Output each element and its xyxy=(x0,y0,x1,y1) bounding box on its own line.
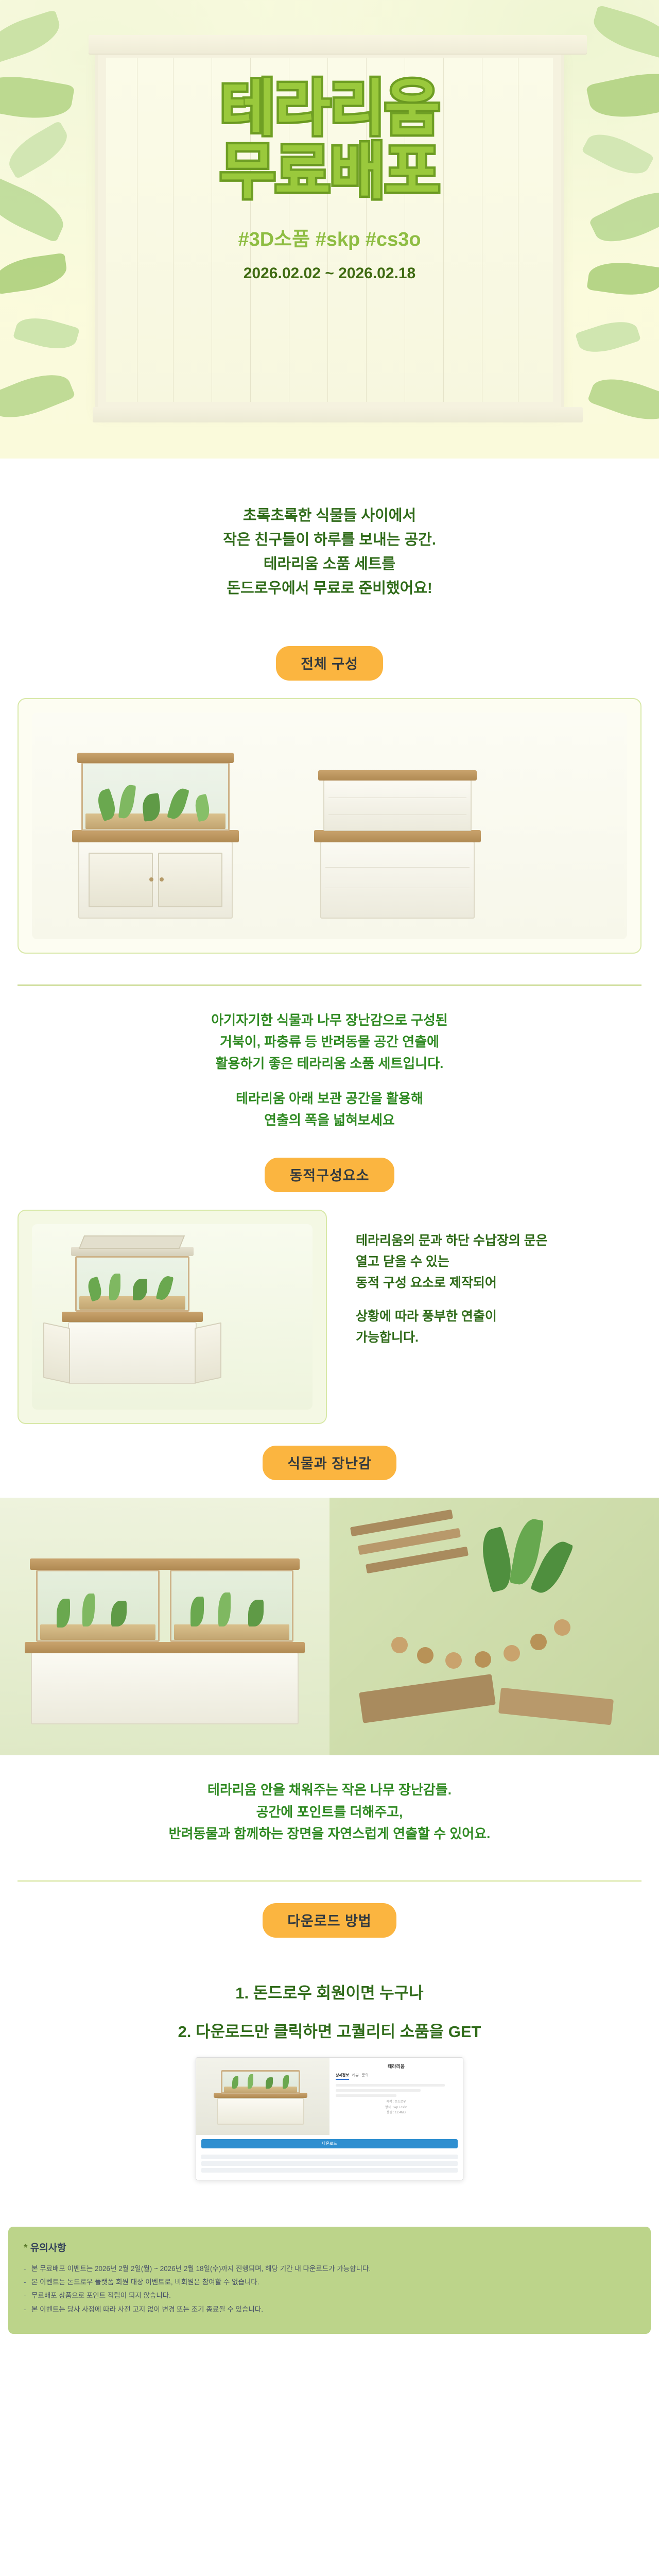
caption-line-4: 테라리움 아래 보관 공간을 활용해 xyxy=(0,1088,659,1109)
promo-page: 테라리움 무료배포 #3D소품 #skp #cs3o 2026.02.02 ~ … xyxy=(0,0,659,2576)
hero-title: 테라리움 무료배포 xyxy=(0,77,659,204)
screenshot-product-info: 테라리움 상세정보 리뷰 문의 제작 : 돈드로우 형식 : skp / cs3… xyxy=(329,2058,463,2135)
hero-title-line2: 무료배포 xyxy=(0,141,659,204)
hero-hashtags: #3D소품 #skp #cs3o xyxy=(0,223,659,251)
download-step-1: 1. 돈드로우 회원이면 누구나 xyxy=(0,1980,659,2003)
plants-and-toys-images xyxy=(0,1498,659,1755)
badge-wrap: 식물과 장난감 xyxy=(0,1429,659,1498)
badge-wrap: 다운로드 방법 xyxy=(0,1887,659,1955)
intro-line-1: 초록초록한 식물들 사이에서 xyxy=(0,504,659,528)
screenshot-download-button[interactable]: 다운로드 xyxy=(201,2139,458,2148)
dynamic-line-2: 열고 닫을 수 있는 xyxy=(356,1251,636,1273)
full-composition-caption: 아기자기한 식물과 나무 장난감으로 구성된 거북이, 파충류 등 반려동물 공… xyxy=(0,986,659,1137)
section-divider xyxy=(18,1880,641,1882)
hero-banner: 테라리움 무료배포 #3D소품 #skp #cs3o 2026.02.02 ~ … xyxy=(0,0,659,459)
notice-title: 유의사항 xyxy=(30,2243,66,2253)
screenshot-placeholder-line xyxy=(336,2084,445,2087)
plants-image-left xyxy=(0,1498,329,1755)
screenshot-meta-1: 제작 : 돈드로우 xyxy=(336,2099,457,2105)
section-download-method: 다운로드 방법 1. 돈드로우 회원이면 누구나 2. 다운로드만 클릭하면 고… xyxy=(0,1887,659,2191)
screenshot-top-row: 테라리움 상세정보 리뷰 문의 제작 : 돈드로우 형식 : skp / cs3… xyxy=(196,2058,463,2135)
intro-line-2: 작은 친구들이 하루를 보내는 공간. xyxy=(0,528,659,552)
full-composition-image-panel xyxy=(18,698,641,954)
screenshot-meta-2: 형식 : skp / cs3o xyxy=(336,2105,457,2111)
screenshot-bottom xyxy=(196,2151,463,2180)
notice-item: 본 이벤트는 당사 사정에 따라 사전 고지 없이 변경 또는 조기 종료될 수… xyxy=(24,2303,635,2316)
screenshot-placeholder-line xyxy=(336,2089,421,2092)
leaf-decor-icon xyxy=(0,365,76,428)
asterisk-icon: * xyxy=(24,2243,27,2253)
terrarium-full-illustration xyxy=(32,713,627,939)
notice-list: 본 무료배포 이벤트는 2026년 2월 2일(월) ~ 2026년 2월 18… xyxy=(24,2262,635,2316)
screenshot-tab-inquiry[interactable]: 문의 xyxy=(362,2073,369,2080)
leaf-decor-icon xyxy=(0,9,65,64)
screenshot-meta-3: 용량 : 12.4MB xyxy=(336,2110,457,2116)
dynamic-line-5: 가능합니다. xyxy=(356,1327,636,1348)
leaf-decor-icon xyxy=(587,369,659,429)
download-page-screenshot: 테라리움 상세정보 리뷰 문의 제작 : 돈드로우 형식 : skp / cs3… xyxy=(196,2057,463,2180)
dynamic-line-4: 상황에 따라 풍부한 연출이 xyxy=(356,1306,636,1327)
section-badge-dynamic-elements: 동적구성요소 xyxy=(265,1158,394,1192)
dynamic-elements-text: 테라리움의 문과 하단 수납장의 문은 열고 닫을 수 있는 동적 구성 요소로… xyxy=(327,1210,641,1424)
notice-item: 본 이벤트는 돈드로우 플랫폼 회원 대상 이벤트로, 비회원은 참여할 수 없… xyxy=(24,2276,635,2289)
notice-item: 무료배포 상품으로 포인트 적립이 되지 않습니다. xyxy=(24,2289,635,2302)
screenshot-product-image xyxy=(196,2058,329,2135)
screenshot-product-title: 테라리움 xyxy=(336,2063,457,2070)
hero-date-range: 2026.02.02 ~ 2026.02.18 xyxy=(0,265,659,282)
intro-paragraph: 초록초록한 식물들 사이에서 작은 친구들이 하루를 보내는 공간. 테라리움 … xyxy=(0,459,659,630)
dynamic-line-3: 동적 구성 요소로 제작되어 xyxy=(356,1273,636,1294)
section-full-composition: 전체 구성 xyxy=(0,630,659,1142)
section-badge-plants-and-toys: 식물과 장난감 xyxy=(263,1446,396,1480)
terrarium-open-doors-illustration xyxy=(32,1224,313,1410)
screenshot-strip xyxy=(201,2155,458,2159)
hero-title-line1: 테라리움 xyxy=(0,77,659,141)
screenshot-tab-details[interactable]: 상세정보 xyxy=(336,2073,349,2080)
hero-content: 테라리움 무료배포 #3D소품 #skp #cs3o 2026.02.02 ~ … xyxy=(0,77,659,282)
plants-caption-line-1: 테라리움 안을 채워주는 작은 나무 장난감들. xyxy=(0,1779,659,1801)
section-dynamic-elements: 동적구성요소 테라리 xyxy=(0,1141,659,1429)
screenshot-tabs: 상세정보 리뷰 문의 xyxy=(336,2073,457,2080)
leaf-decor-icon xyxy=(589,5,659,60)
plants-caption-line-2: 공간에 포인트를 더해주고, xyxy=(0,1801,659,1823)
dynamic-line-1: 테라리움의 문과 하단 수납장의 문은 xyxy=(356,1230,636,1251)
dynamic-gap xyxy=(356,1294,636,1306)
leaf-decor-icon xyxy=(13,312,80,355)
caption-line-2: 거북이, 파충류 등 반려동물 공간 연출에 xyxy=(0,1031,659,1053)
notice-title-row: * 유의사항 xyxy=(24,2240,635,2254)
badge-wrap: 전체 구성 xyxy=(0,630,659,698)
badge-wrap: 동적구성요소 xyxy=(0,1141,659,1210)
plants-and-toys-caption: 테라리움 안을 채워주는 작은 나무 장난감들. 공간에 포인트를 더해주고, … xyxy=(0,1755,659,1849)
caption-gap xyxy=(0,1074,659,1088)
intro-line-4: 돈드로우에서 무료로 준비했어요! xyxy=(0,577,659,601)
screenshot-strip xyxy=(201,2161,458,2166)
section-plants-and-toys: 식물과 장난감 xyxy=(0,1429,659,1886)
notice-item: 본 무료배포 이벤트는 2026년 2월 2일(월) ~ 2026년 2월 18… xyxy=(24,2262,635,2276)
screenshot-strip xyxy=(201,2168,458,2173)
screenshot-placeholder-line xyxy=(336,2094,396,2097)
section-badge-full-composition: 전체 구성 xyxy=(276,646,383,681)
screenshot-tab-reviews[interactable]: 리뷰 xyxy=(352,2073,359,2080)
caption-line-3: 활용하기 좋은 테라리움 소품 세트입니다. xyxy=(0,1053,659,1074)
caption-line-1: 아기자기한 식물과 나무 장난감으로 구성된 xyxy=(0,1009,659,1031)
download-steps: 1. 돈드로우 회원이면 누구나 2. 다운로드만 클릭하면 고퀄리티 소품을 … xyxy=(0,1955,659,2185)
section-badge-download-method: 다운로드 방법 xyxy=(263,1903,396,1938)
intro-line-3: 테라리움 소품 세트를 xyxy=(0,552,659,577)
dynamic-elements-image-panel xyxy=(18,1210,327,1424)
plants-caption-line-3: 반려동물과 함께하는 장면을 자연스럽게 연출할 수 있어요. xyxy=(0,1823,659,1844)
dynamic-elements-row: 테라리움의 문과 하단 수납장의 문은 열고 닫을 수 있는 동적 구성 요소로… xyxy=(18,1210,641,1424)
plants-image-right xyxy=(329,1498,659,1755)
leaf-decor-icon xyxy=(575,315,641,359)
download-step-2: 2. 다운로드만 클릭하면 고퀄리티 소품을 GET xyxy=(0,2019,659,2042)
notice-box: * 유의사항 본 무료배포 이벤트는 2026년 2월 2일(월) ~ 2026… xyxy=(8,2227,651,2334)
caption-line-5: 연출의 폭을 넓혀보세요 xyxy=(0,1109,659,1131)
